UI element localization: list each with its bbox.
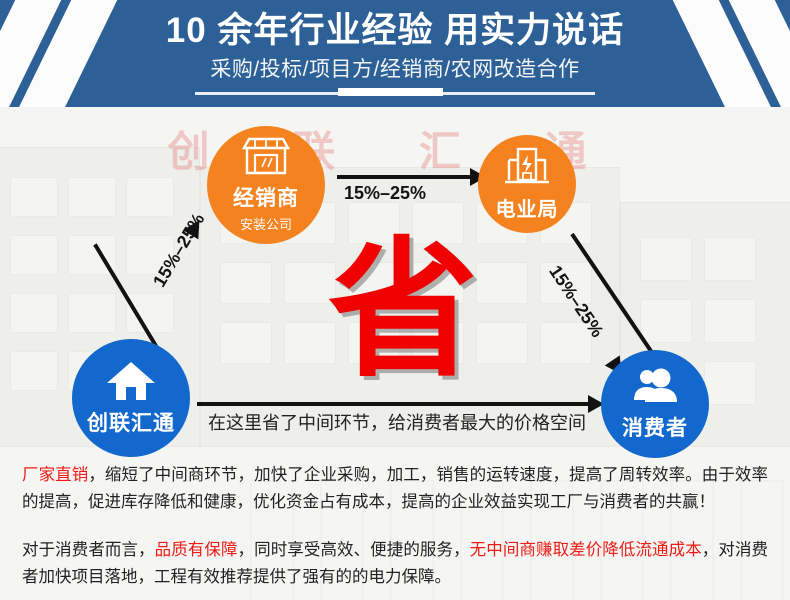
node-dealer[interactable]: 经销商 安装公司 bbox=[207, 126, 325, 244]
body-copy: 厂家直销，缩短了中间商环节，加快了企业采购，加工，销售的运转速度，提高了周转效率… bbox=[0, 462, 790, 591]
paragraph-one-rest: ，缩短了中间商环节，加快了企业采购，加工，销售的运转速度，提高了周转效率。由于效… bbox=[22, 466, 768, 511]
arrow-label-factory-to-dealer: 15%–25% bbox=[149, 210, 209, 291]
promo-banner: 10 余年行业经验 用实力说话 采购/投标/项目方/经销商/农网改造合作 bbox=[0, 0, 790, 600]
node-factory[interactable]: 创联汇通 bbox=[72, 339, 190, 457]
paragraph-two-highlight-one: 品质有保障 bbox=[155, 541, 238, 559]
node-power-bureau[interactable]: 电业局 bbox=[478, 135, 576, 233]
arrow-label-factory-to-consumer: 在这里省了中间环节，给消费者最大的价格空间 bbox=[197, 409, 597, 435]
node-dealer-subtitle: 安装公司 bbox=[240, 214, 292, 233]
people-icon bbox=[630, 366, 680, 410]
paragraph-two: 对于消费者而言，品质有保障，同时享受高效、便捷的服务，无中间商赚取差价降低流通成… bbox=[22, 537, 768, 591]
value-chain-diagram: 省 15%–25% 15%–25% 15%–25% 在这里省了中间环节，给消费者… bbox=[0, 107, 790, 457]
paragraph-two-lead: 对于消费者而言， bbox=[22, 541, 155, 559]
paragraph-one-highlight: 厂家直销 bbox=[22, 466, 88, 484]
header-title: 10 余年行业经验 用实力说话 bbox=[0, 8, 790, 54]
paragraph-one: 厂家直销，缩短了中间商环节，加快了企业采购，加工，销售的运转速度，提高了周转效率… bbox=[22, 462, 768, 516]
house-icon bbox=[105, 360, 157, 406]
arrow-dealer-to-power-line bbox=[337, 175, 475, 179]
header-banner: 10 余年行业经验 用实力说话 采购/投标/项目方/经销商/农网改造合作 bbox=[0, 0, 790, 107]
save-character: 省 bbox=[318, 235, 488, 385]
node-consumer[interactable]: 消费者 bbox=[601, 350, 709, 458]
node-consumer-title: 消费者 bbox=[622, 412, 688, 442]
paragraph-two-highlight-two: 无中间商赚取差价降低流通成本 bbox=[470, 541, 702, 559]
paragraph-two-mid: ，同时享受高效、便捷的服务， bbox=[238, 541, 470, 559]
power-building-icon bbox=[503, 146, 551, 190]
node-factory-title: 创联汇通 bbox=[87, 407, 175, 437]
header-subtitle: 采购/投标/项目方/经销商/农网改造合作 bbox=[0, 56, 790, 84]
shop-icon bbox=[240, 137, 292, 179]
node-dealer-title: 经销商 bbox=[233, 182, 299, 212]
arrow-factory-to-consumer-line bbox=[197, 402, 592, 406]
node-power-bureau-title: 电业局 bbox=[496, 193, 559, 222]
arrow-label-dealer-to-power: 15%–25% bbox=[344, 183, 426, 204]
header-divider-center bbox=[338, 88, 443, 96]
